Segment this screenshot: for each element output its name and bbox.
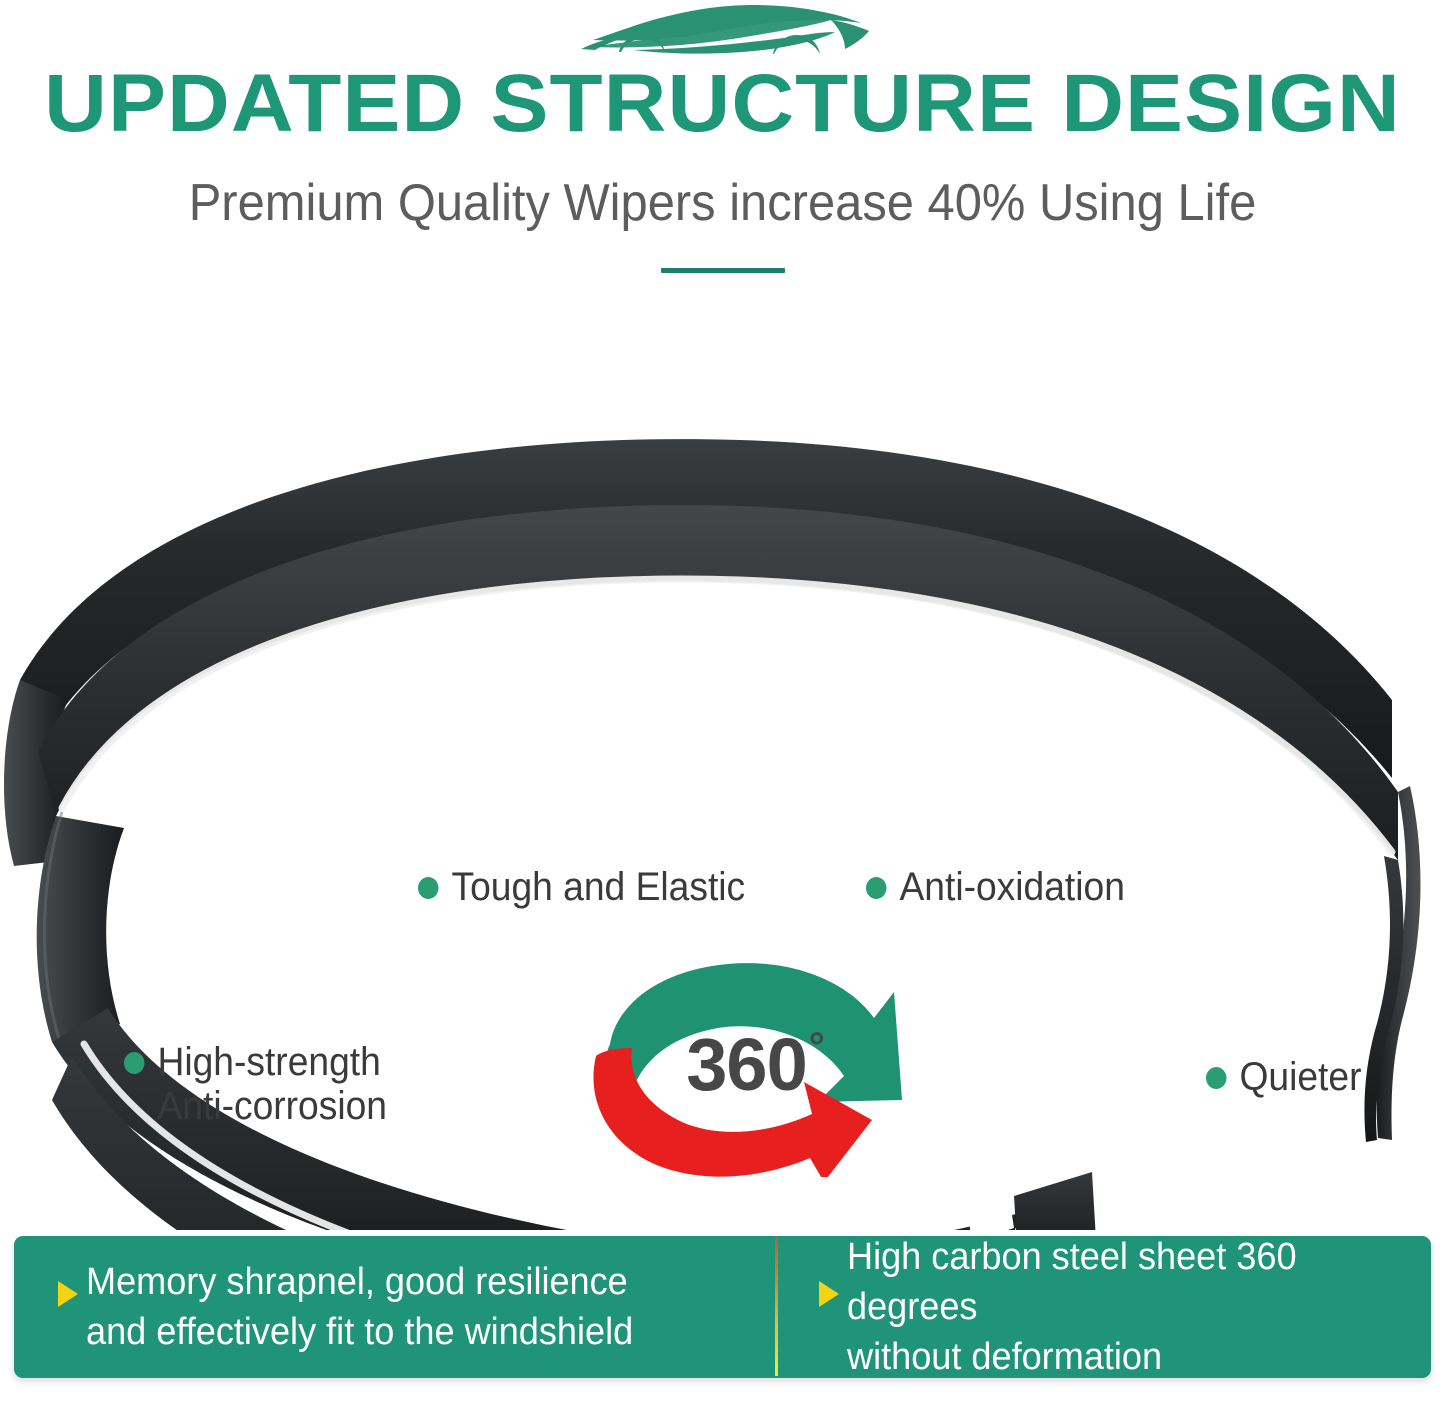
feature-text: Tough and Elastic	[451, 865, 745, 909]
header: UPDATED STRUCTURE DESIGN Premium Quality…	[0, 0, 1445, 300]
rotation-arrows-icon	[572, 952, 922, 1177]
bullet-dot-icon	[418, 877, 438, 899]
banner-item-text: Memory shrapnel, good resilience and eff…	[86, 1257, 633, 1357]
car-silhouette-icon	[573, 2, 873, 60]
triangle-bullet-icon	[58, 1281, 78, 1307]
bottom-feature-banner: Memory shrapnel, good resilience and eff…	[14, 1236, 1431, 1378]
banner-item-high-carbon-steel: High carbon steel sheet 360 degrees with…	[775, 1236, 1431, 1378]
feature-label-anti-oxidation: Anti-oxidation	[866, 865, 1125, 909]
product-stage: Tough and Elastic Anti-oxidation High-st…	[0, 300, 1445, 1230]
title-underline	[661, 268, 785, 273]
banner-item-memory-shrapnel: Memory shrapnel, good resilience and eff…	[14, 1236, 775, 1378]
bullet-dot-icon	[866, 877, 886, 899]
bullet-dot-icon	[124, 1052, 144, 1074]
feature-label-quieter: Quieter	[1206, 1055, 1361, 1099]
feature-text: High-strength Anti-corrosion	[157, 1040, 386, 1128]
banner-item-text: High carbon steel sheet 360 degrees with…	[847, 1232, 1402, 1382]
page-subtitle: Premium Quality Wipers increase 40% Usin…	[43, 172, 1401, 234]
triangle-bullet-icon	[819, 1281, 839, 1307]
bullet-dot-icon	[1206, 1067, 1226, 1089]
badge-360-degree: 360°	[572, 952, 922, 1177]
page-title: UPDATED STRUCTURE DESIGN	[0, 58, 1445, 150]
feature-text: Quieter	[1239, 1055, 1361, 1099]
feature-label-tough-and-elastic: Tough and Elastic	[418, 865, 745, 909]
feature-text: Anti-oxidation	[899, 865, 1124, 909]
feature-label-high-strength-anti-corrosion: High-strength Anti-corrosion	[124, 1040, 387, 1128]
